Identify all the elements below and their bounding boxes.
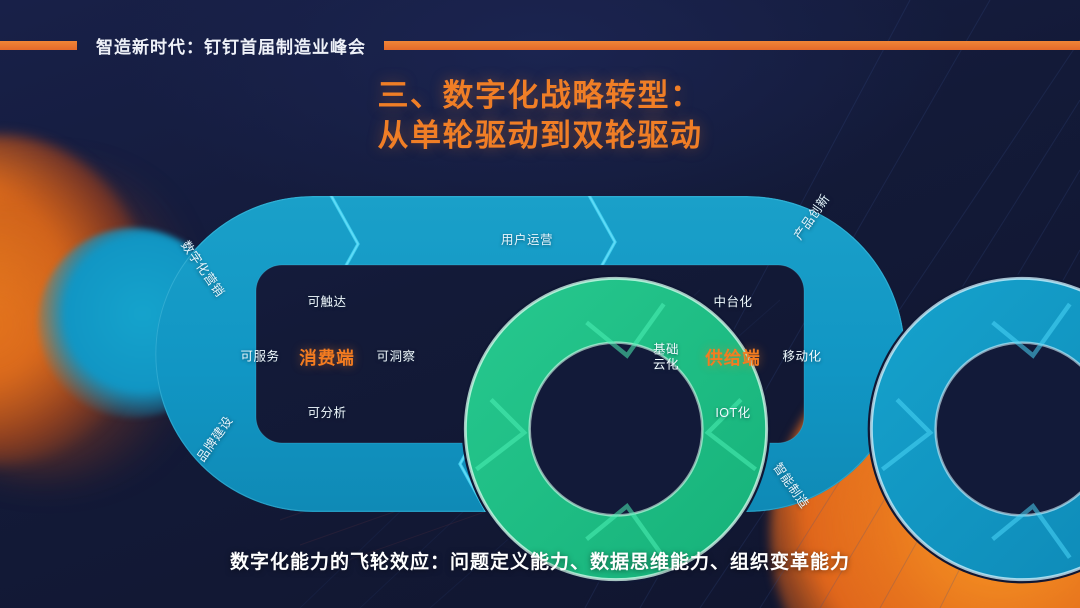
node-supply-label-top: 中台化 xyxy=(647,295,819,310)
header-title: 智造新时代：钉钉首届制造业峰会 xyxy=(77,33,384,58)
node-supply: 供给端 中台化 基础 云化 移动化 IOT化 xyxy=(647,271,819,443)
header-bar-left xyxy=(0,41,77,50)
page-title-line2: 从单轮驱动到双轮驱动 xyxy=(0,116,1080,156)
node-supply-label-left: 基础 云化 xyxy=(635,342,697,372)
node-consumer-label-right: 可洞察 xyxy=(365,350,427,365)
slide-root: 智造新时代：钉钉首届制造业峰会 三、数字化战略转型： 从单轮驱动到双轮驱动 xyxy=(0,0,1080,608)
node-supply-label-bottom: IOT化 xyxy=(647,406,819,421)
node-consumer: 消费端 可触达 可服务 可洞察 可分析 xyxy=(241,271,413,443)
node-supply-label-left-line2: 云化 xyxy=(635,357,697,372)
node-consumer-label-top: 可触达 xyxy=(241,295,413,310)
page-title: 三、数字化战略转型： 从单轮驱动到双轮驱动 xyxy=(0,76,1080,157)
node-supply-label-left-line1: 基础 xyxy=(635,342,697,357)
flywheel-diagram: 用户运营 销售和分销 渠道管理 数字化营销 品牌建设 产品创新 智能制造 消 xyxy=(155,196,905,512)
node-consumer-label-bottom: 可分析 xyxy=(241,406,413,421)
node-supply-label-right: 移动化 xyxy=(771,350,833,365)
footer-caption: 数字化能力的飞轮效应：问题定义能力、数据思维能力、组织变革能力 xyxy=(0,547,1080,574)
node-consumer-label-left: 可服务 xyxy=(229,350,291,365)
header-bar-right xyxy=(384,41,1080,50)
slide-header: 智造新时代：钉钉首届制造业峰会 xyxy=(0,28,1080,62)
page-title-line1: 三、数字化战略转型： xyxy=(378,78,703,113)
track-label-top: 用户运营 xyxy=(501,229,553,248)
